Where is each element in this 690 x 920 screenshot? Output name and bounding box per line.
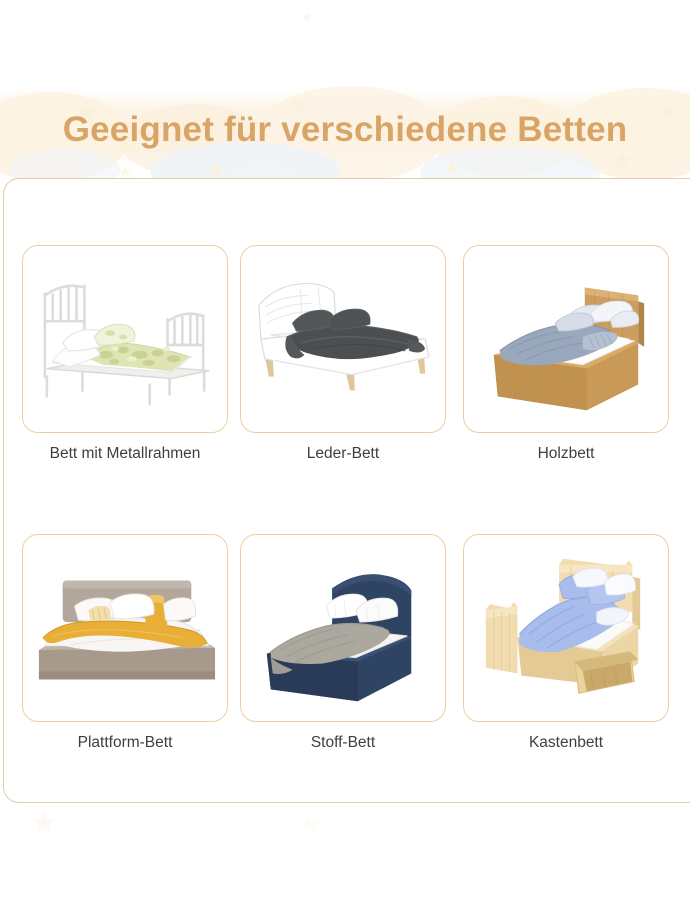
leather-bed-icon [241,246,445,432]
star-icon [300,815,318,833]
page-title: Geeignet für verschiedene Betten [63,112,628,147]
star-icon [612,150,633,171]
bed-card-fabric-bed[interactable] [240,534,446,722]
decorative-background [0,0,690,200]
bed-card-wooden-bed[interactable] [463,245,669,433]
star-icon [205,160,225,180]
bed-label-fabric-bed: Stoff-Bett [240,735,446,751]
bed-card-storage-bed[interactable] [463,534,669,722]
bed-label-metal-frame-bed: Bett mit Metallrahmen [22,446,228,462]
star-icon [660,104,676,120]
bed-card-platform-bed[interactable] [22,534,228,722]
star-icon [443,160,460,177]
platform-bed-icon [23,535,227,721]
metal-frame-bed-icon [23,246,227,432]
bed-label-leather-bed: Leder-Bett [240,446,446,462]
star-icon [300,10,314,24]
fabric-bed-icon [241,535,445,721]
bed-label-storage-bed: Kastenbett [463,735,669,751]
star-icon [118,165,132,179]
wooden-bed-icon [464,246,668,432]
star-icon [520,96,533,109]
bed-card-leather-bed[interactable] [240,245,446,433]
star-icon [30,810,56,836]
bed-types-grid: Bett mit Metallrahmen [3,178,690,803]
promo-page: Geeignet für verschiedene Betten [0,0,690,920]
bed-card-metal-frame-bed[interactable] [22,245,228,433]
storage-bed-icon [464,535,668,721]
bed-label-platform-bed: Plattform-Bett [22,735,228,751]
bed-label-wooden-bed: Holzbett [463,446,669,462]
